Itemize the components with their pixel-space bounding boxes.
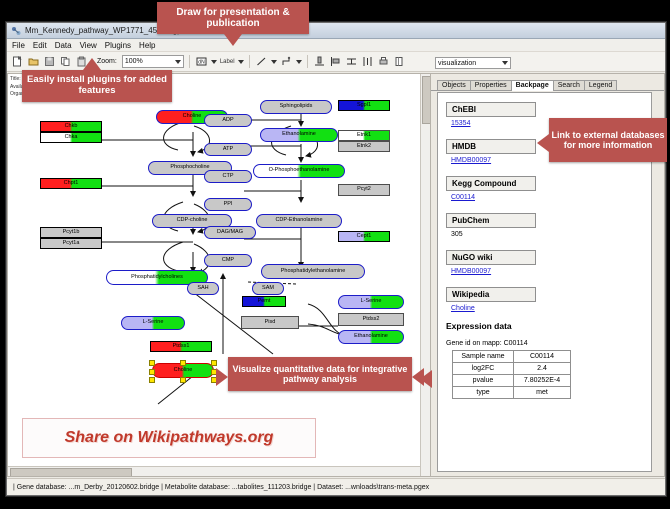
metabolite-node[interactable]: O-Phosphoethanolamine — [253, 164, 345, 178]
metabolite-node[interactable]: Ethanolamine — [260, 128, 338, 142]
expression-table: Sample name C00114 log2FC 2.4 pvalue 7.8… — [452, 350, 571, 399]
selection-handle[interactable] — [180, 360, 186, 366]
node-label: Choline — [183, 114, 202, 120]
expr-key: Sample name — [453, 351, 514, 363]
node-label: DAG/MAG — [217, 230, 243, 236]
canvas-surface[interactable]: Title: Availa Organi — [8, 74, 430, 476]
menu-item-edit[interactable]: Edit — [33, 41, 47, 50]
db-header-pubchem: PubChem — [446, 213, 536, 228]
expr-key: log2FC — [453, 363, 514, 375]
selection-handle[interactable] — [149, 360, 155, 366]
chevron-down-icon — [502, 61, 508, 65]
node-label: Sphingolipids — [280, 104, 313, 110]
node-label: Ptdss1 — [173, 344, 190, 350]
metabolite-node[interactable]: SAM — [252, 282, 284, 295]
callout-visualize-arrow-right-icon — [216, 368, 228, 386]
pathway-canvas[interactable]: Title: Availa Organi — [7, 73, 431, 477]
callout-draw-arrow-down-icon — [224, 34, 242, 46]
db-header-wikipedia: Wikipedia — [446, 287, 536, 302]
gene-node[interactable]: Pemt — [242, 296, 286, 307]
node-label: Pcyt1b — [63, 230, 80, 236]
selection-handle[interactable] — [211, 360, 217, 366]
new-icon[interactable] — [11, 55, 24, 68]
callout-share: Share on Wikipathways.org — [22, 418, 316, 458]
node-label: Pcyt2 — [357, 187, 371, 193]
datanode-icon[interactable]: dN — [195, 55, 208, 68]
visualization-value: visualization — [438, 60, 476, 67]
share-text: Share on Wikipathways.org — [65, 429, 274, 447]
node-label: CTP — [223, 174, 234, 180]
db-value-pubchem: 305 — [451, 231, 651, 238]
node-label: SAM — [262, 286, 274, 292]
node-label: CDP-choline — [177, 218, 208, 224]
zoom-value: 100% — [125, 58, 143, 65]
node-label: Ethanolamine — [282, 132, 316, 138]
toolbar-separator-2 — [249, 55, 250, 68]
gene-node[interactable]: Pcyt1a — [40, 238, 102, 249]
node-label: Cept1 — [357, 234, 372, 240]
metabolite-node[interactable]: DAG/MAG — [204, 226, 256, 239]
db-header-chebi: ChEBI — [446, 102, 536, 117]
connector-chevron-down-icon[interactable] — [296, 60, 302, 64]
pathvisio-icon — [11, 26, 21, 36]
label-chevron-down-icon[interactable] — [238, 60, 244, 64]
selection-handle[interactable] — [180, 377, 186, 383]
callout-plugins-arrow-up-icon — [83, 58, 101, 70]
selection-handle[interactable] — [149, 369, 155, 375]
metabolite-node[interactable]: PPI — [204, 198, 252, 211]
canvas-vscroll-thumb[interactable] — [422, 76, 431, 124]
metabolite-node[interactable]: CDP-Ethanolamine — [256, 214, 342, 228]
menu-item-data[interactable]: Data — [55, 41, 72, 50]
node-label: L-Serine — [361, 299, 382, 305]
canvas-vscrollbar[interactable] — [420, 74, 430, 476]
menu-item-help[interactable]: Help — [139, 41, 155, 50]
node-label: CDP-Ethanolamine — [275, 218, 322, 224]
gene-node[interactable]: Pcyt1b — [40, 227, 102, 238]
gene-node[interactable]: Chkb — [40, 121, 102, 132]
db-link-nugowiki[interactable]: HMDB00097 — [451, 268, 651, 275]
node-label: Chkb — [65, 124, 78, 130]
node-label: SAH — [197, 286, 208, 292]
metabolite-node[interactable]: L-Serine — [338, 295, 404, 309]
gene-node[interactable]: Chpt1 — [40, 178, 102, 189]
toolbar-separator-3 — [307, 55, 308, 68]
table-row: Sample name C00114 — [453, 351, 571, 363]
metabolite-node[interactable]: Phosphatidylethanolamine — [261, 264, 365, 279]
expr-value: 2.4 — [514, 363, 571, 375]
db-link-wikipedia[interactable]: Choline — [451, 305, 651, 312]
expr-key: pvalue — [453, 375, 514, 387]
canvas-hscroll-thumb[interactable] — [10, 468, 132, 477]
tab-backpage[interactable]: Backpage — [511, 80, 554, 91]
node-label: Chka — [65, 135, 78, 141]
gene-node[interactable]: Sgpl1 — [338, 100, 390, 111]
metabolite-node[interactable]: SAH — [187, 282, 219, 295]
table-row: log2FC 2.4 — [453, 363, 571, 375]
node-label: Etnk1 — [357, 133, 371, 139]
db-header-hmdb: HMDB — [446, 139, 536, 154]
node-label: PPI — [224, 202, 233, 208]
align-left-icon[interactable] — [329, 55, 342, 68]
screen-root: Mm_Kennedy_pathway_WP1771_45176.gpml Fil… — [0, 0, 670, 509]
stack-icon[interactable] — [345, 55, 358, 68]
metabolite-node[interactable]: ADP — [204, 114, 252, 127]
gene-node[interactable]: Pcyt2 — [338, 184, 390, 196]
svg-text:dN: dN — [198, 60, 205, 66]
callout-visualize: Visualize quantitative data for integrat… — [228, 357, 412, 391]
table-row: type met — [453, 387, 571, 399]
toolbar-separator — [189, 55, 190, 68]
canvas-hscrollbar[interactable] — [8, 466, 421, 476]
node-label: Sgpl1 — [357, 103, 371, 109]
node-label: Chpt1 — [64, 181, 79, 187]
tool-bar: Zoom: 100% dN Label — [7, 52, 665, 72]
tab-objects[interactable]: Objects — [437, 80, 471, 90]
node-label: ATP — [223, 147, 233, 153]
distribute-icon[interactable] — [361, 55, 374, 68]
gene-node[interactable]: Cept1 — [338, 231, 390, 242]
node-label: Ethanolamine — [354, 334, 388, 340]
metabolite-node[interactable]: Sphingolipids — [260, 100, 332, 114]
visualization-combobox[interactable]: visualization — [435, 57, 511, 69]
expr-key: type — [453, 387, 514, 399]
metabolite-node[interactable]: L-Serine — [121, 316, 185, 330]
table-row: pvalue 7.80252E-4 — [453, 375, 571, 387]
node-label: Phosphatidylcholines — [131, 275, 183, 281]
metabolite-node[interactable]: ATP — [204, 143, 252, 156]
gene-node[interactable]: Etnk1 — [338, 130, 390, 141]
db-link-kegg[interactable]: C00114 — [451, 194, 651, 201]
menu-item-file[interactable]: File — [12, 41, 25, 50]
gene-id-line: Gene id on mapp: C00114 — [446, 340, 651, 347]
gene-node[interactable]: Ptdss1 — [150, 341, 212, 352]
node-label: Pisd — [265, 320, 276, 326]
line-tool-icon[interactable] — [255, 55, 268, 68]
tab-legend[interactable]: Legend — [584, 80, 617, 90]
db-header-kegg: Kegg Compound — [446, 176, 536, 191]
status-text: | Gene database: ...m_Derby_20120602.bri… — [13, 484, 429, 491]
node-label: Phosphatidylethanolamine — [281, 269, 346, 275]
menu-item-view[interactable]: View — [80, 41, 97, 50]
tab-properties[interactable]: Properties — [470, 80, 512, 90]
status-bar: | Gene database: ...m_Derby_20120602.bri… — [7, 478, 665, 495]
label-tool-label[interactable]: Label — [220, 59, 235, 65]
node-label: ADP — [222, 118, 233, 124]
node-label: Pcyt1a — [63, 241, 80, 247]
side-panel-tabs[interactable]: Objects Properties Backpage Search Legen… — [431, 74, 664, 91]
callout-links: Link to external databases for more info… — [549, 118, 667, 162]
db-header-nugowiki: NuGO wiki — [446, 250, 536, 265]
gene-node[interactable]: Ptdss2 — [338, 313, 404, 326]
datanode-chevron-down-icon[interactable] — [211, 60, 217, 64]
line-chevron-down-icon[interactable] — [271, 60, 277, 64]
gene-node[interactable]: Etnk2 — [338, 141, 390, 152]
node-label: CMP — [222, 258, 234, 264]
node-label: Etnk2 — [357, 144, 371, 150]
callout-draw: Draw for presentation & publication — [157, 2, 309, 34]
menu-bar[interactable]: File Edit Data View Plugins Help — [7, 39, 665, 52]
expression-data-heading: Expression data — [446, 321, 651, 331]
expr-value: met — [514, 387, 571, 399]
callout-links-arrow-left-icon — [537, 134, 549, 152]
gene-node[interactable]: Pisd — [241, 316, 299, 329]
menu-item-plugins[interactable]: Plugins — [105, 41, 131, 50]
callout-plugins: Easily install plugins for added feature… — [22, 70, 172, 102]
metabolite-node[interactable]: Ethanolamine — [338, 330, 404, 344]
save-icon[interactable] — [43, 55, 56, 68]
node-label: L-Serine — [143, 320, 164, 326]
page-icon[interactable] — [393, 55, 406, 68]
connector-tool-icon[interactable] — [280, 55, 293, 68]
node-label: Ptdss2 — [363, 317, 380, 323]
node-label: Pemt — [258, 299, 271, 305]
tab-search[interactable]: Search — [553, 80, 585, 90]
node-label: Phosphocholine — [170, 165, 209, 171]
expr-value: C00114 — [514, 351, 571, 363]
expr-value: 7.80252E-4 — [514, 375, 571, 387]
copy-icon[interactable] — [59, 55, 72, 68]
print-icon[interactable] — [377, 55, 390, 68]
node-label: O-Phosphoethanolamine — [269, 168, 330, 174]
callout-expression-arrow-left-icon — [420, 370, 432, 388]
metabolite-node[interactable]: CTP — [204, 170, 252, 183]
gene-node[interactable]: Chka — [40, 132, 102, 143]
metabolite-node[interactable]: CMP — [204, 254, 252, 267]
zoom-combobox[interactable]: 100% — [122, 55, 184, 68]
title-bar: Mm_Kennedy_pathway_WP1771_45176.gpml — [7, 23, 665, 39]
open-icon[interactable] — [27, 55, 40, 68]
selection-handle[interactable] — [149, 377, 155, 383]
align-bottom-icon[interactable] — [313, 55, 326, 68]
chevron-down-icon — [175, 60, 181, 64]
node-label: Choline — [174, 368, 193, 374]
